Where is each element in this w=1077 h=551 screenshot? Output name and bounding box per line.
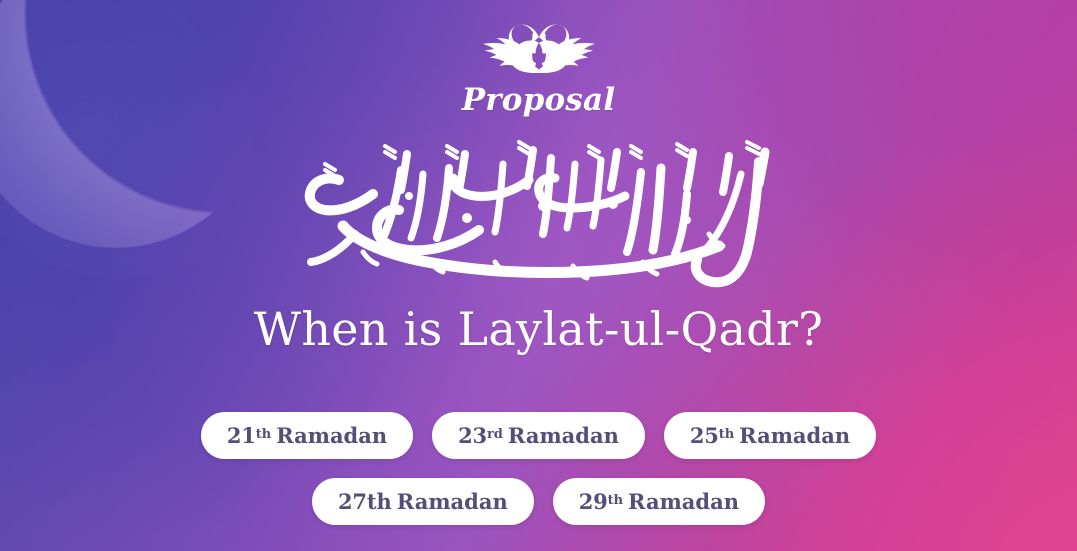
option-number: 29 xyxy=(579,478,608,525)
date-options-group: 21thRamadan 23rdRamadan 25thRamadan 27th… xyxy=(189,412,889,525)
brand-logo[interactable]: Proposal xyxy=(462,22,616,116)
option-29th-ramadan[interactable]: 29thRamadan xyxy=(553,478,765,525)
option-number: 25 xyxy=(690,412,719,459)
option-number: 23 xyxy=(458,412,487,459)
arabic-calligraphy xyxy=(279,130,799,298)
option-23rd-ramadan[interactable]: 23rdRamadan xyxy=(432,412,645,459)
brand-name: Proposal xyxy=(462,85,616,116)
option-number: 27 xyxy=(338,478,367,525)
option-month: Ramadan xyxy=(397,478,508,525)
banner-content: Proposal xyxy=(0,0,1077,551)
option-month: Ramadan xyxy=(628,478,739,525)
option-21th-ramadan[interactable]: 21thRamadan xyxy=(201,412,413,459)
option-25th-ramadan[interactable]: 25thRamadan xyxy=(664,412,876,459)
option-number: 21 xyxy=(227,412,256,459)
option-month: Ramadan xyxy=(276,412,387,459)
option-27th-ramadan[interactable]: 27thRamadan xyxy=(312,478,534,525)
laylat-ul-qadr-banner: Proposal xyxy=(0,0,1077,551)
option-month: Ramadan xyxy=(739,412,850,459)
option-month: Ramadan xyxy=(508,412,619,459)
two-swans-heart-icon xyxy=(471,22,607,84)
page-title: When is Laylat-ul-Qadr? xyxy=(254,306,823,352)
option-ordinal: th xyxy=(367,478,392,525)
